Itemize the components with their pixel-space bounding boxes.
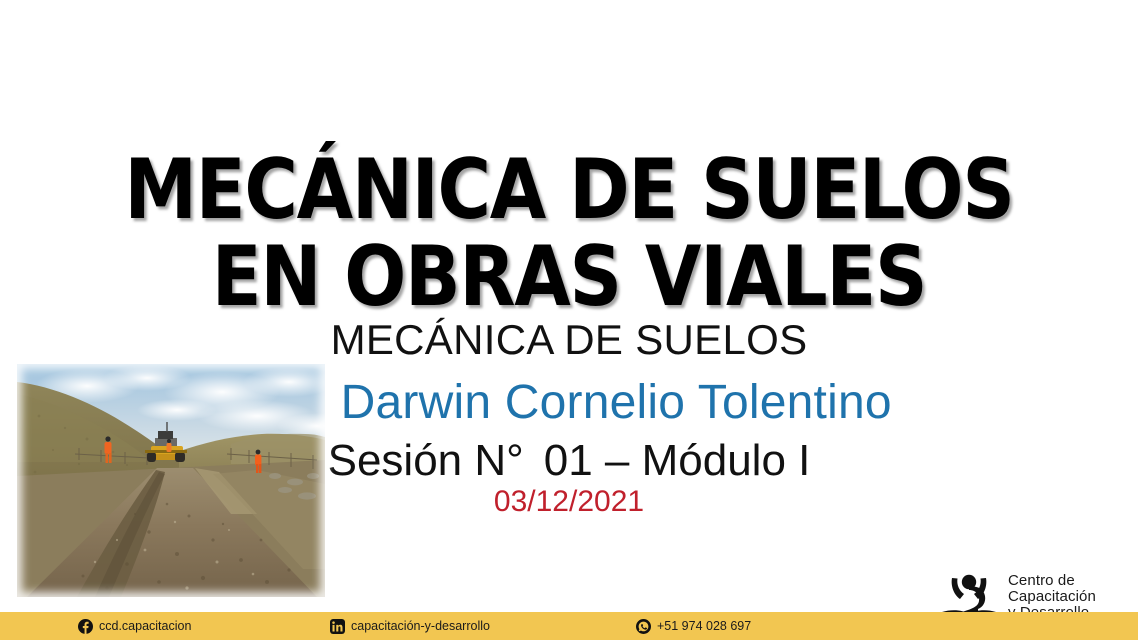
logo-line-2: Capacitación <box>1008 589 1096 605</box>
slide-subtitle: MECÁNICA DE SUELOS <box>0 316 1138 364</box>
facebook-icon <box>78 619 93 634</box>
whatsapp-phone: +51 974 028 697 <box>657 619 751 633</box>
whatsapp-icon <box>636 619 651 634</box>
title-line-2: EN OBRAS VIALES <box>68 237 1069 318</box>
logo-line-1: Centro de <box>1008 573 1096 589</box>
linkedin-contact[interactable]: capacitación-y-desarrollo <box>330 612 490 640</box>
presentation-slide: MECÁNICA DE SUELOS EN OBRAS VIALES MECÁN… <box>0 0 1138 640</box>
footer-contact-bar: ccd.capacitacion capacitación-y-desarrol… <box>0 612 1138 640</box>
photo-image <box>17 364 325 597</box>
title-line-1: MECÁNICA DE SUELOS <box>68 150 1069 231</box>
slide-main-title: MECÁNICA DE SUELOS EN OBRAS VIALES <box>0 150 1138 317</box>
session-value: 01 – Módulo I <box>544 436 811 485</box>
session-label: Sesión N° <box>328 436 524 485</box>
linkedin-icon <box>330 619 345 634</box>
whatsapp-contact[interactable]: +51 974 028 697 <box>636 612 751 640</box>
facebook-handle: ccd.capacitacion <box>99 619 191 633</box>
linkedin-handle: capacitación-y-desarrollo <box>351 619 490 633</box>
road-construction-photo <box>17 364 325 597</box>
facebook-contact[interactable]: ccd.capacitacion <box>78 612 191 640</box>
